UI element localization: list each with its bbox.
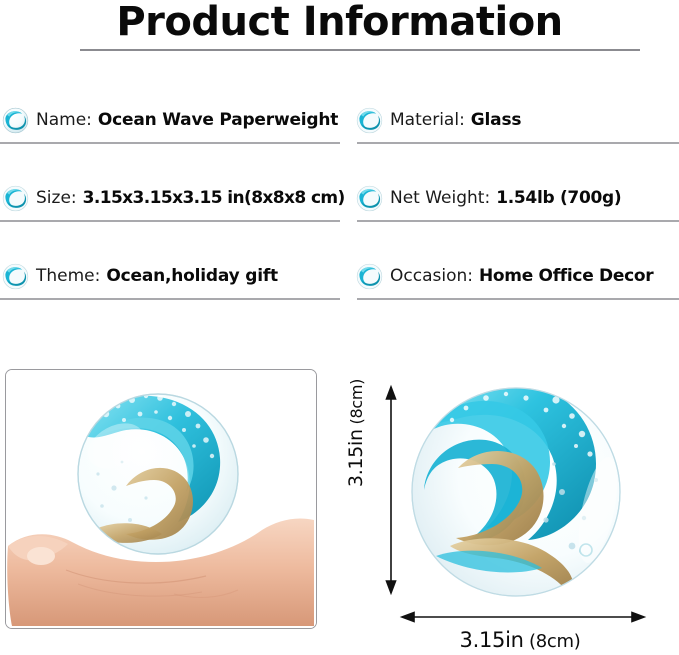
width-dimension-unit: (8cm) xyxy=(524,631,581,652)
spec-underline xyxy=(0,220,340,222)
spec-row: Name: Ocean Wave Paperweight xyxy=(0,96,339,174)
spec-value: Home Office Decor xyxy=(479,266,653,286)
spec-underline xyxy=(0,142,340,144)
spec-label: Material: xyxy=(390,110,465,130)
width-dimension-value: 3.15in xyxy=(460,628,524,652)
ocean-wave-icon xyxy=(2,263,29,290)
height-dimension-value: 3.15in xyxy=(345,429,367,487)
spec-row: Material: Glass xyxy=(352,96,679,174)
spec-value: Glass xyxy=(471,110,522,130)
ocean-wave-icon xyxy=(356,107,383,134)
spec-line: Theme: Ocean,holiday gift xyxy=(2,260,278,292)
spec-line: Net Weight: 1.54lb (700g) xyxy=(356,182,621,214)
spec-value: Ocean,holiday gift xyxy=(106,266,278,286)
product-spec-list: Name: Ocean Wave Paperweight Material: G… xyxy=(0,96,679,328)
spec-underline xyxy=(357,298,679,300)
spec-label: Occasion: xyxy=(390,266,473,286)
spec-row: Occasion: Home Office Decor xyxy=(352,252,679,330)
spec-line: Size: 3.15x3.15x3.15 in(8x8x8 cm) xyxy=(2,182,345,214)
product-photo-in-hand xyxy=(5,369,317,629)
product-photo-with-dimensions: 3.15in (8cm) 3.15in (8cm) xyxy=(340,360,679,655)
spec-label: Size: xyxy=(36,188,77,208)
paperweight-dimension-illustration xyxy=(340,360,679,655)
spec-label: Name: xyxy=(36,110,92,130)
spec-value: 1.54lb (700g) xyxy=(496,188,621,208)
spec-label: Net Weight: xyxy=(390,188,490,208)
ocean-wave-icon xyxy=(356,185,383,212)
page-header: Product Information xyxy=(0,0,679,58)
spec-line: Occasion: Home Office Decor xyxy=(356,260,653,292)
ocean-wave-icon xyxy=(2,185,29,212)
ocean-wave-icon xyxy=(356,263,383,290)
height-dimension-label: 3.15in (8cm) xyxy=(345,353,367,513)
spec-underline xyxy=(357,220,679,222)
title-divider xyxy=(80,49,640,51)
spec-line: Material: Glass xyxy=(356,104,521,136)
spec-label: Theme: xyxy=(36,266,100,286)
paperweight-in-hand-illustration xyxy=(6,370,316,628)
spec-value: Ocean Wave Paperweight xyxy=(98,110,338,130)
spec-underline xyxy=(357,142,679,144)
width-dimension-label: 3.15in (8cm) xyxy=(370,628,670,652)
spec-value: 3.15x3.15x3.15 in(8x8x8 cm) xyxy=(83,188,345,208)
spec-line: Name: Ocean Wave Paperweight xyxy=(2,104,338,136)
page-title: Product Information xyxy=(0,0,679,46)
ocean-wave-icon xyxy=(2,107,29,134)
spec-row: Net Weight: 1.54lb (700g) xyxy=(352,174,679,252)
spec-row: Theme: Ocean,holiday gift xyxy=(0,252,339,330)
height-dimension-unit: (8cm) xyxy=(347,379,366,429)
spec-underline xyxy=(0,298,340,300)
spec-row: Size: 3.15x3.15x3.15 in(8x8x8 cm) xyxy=(0,174,339,252)
